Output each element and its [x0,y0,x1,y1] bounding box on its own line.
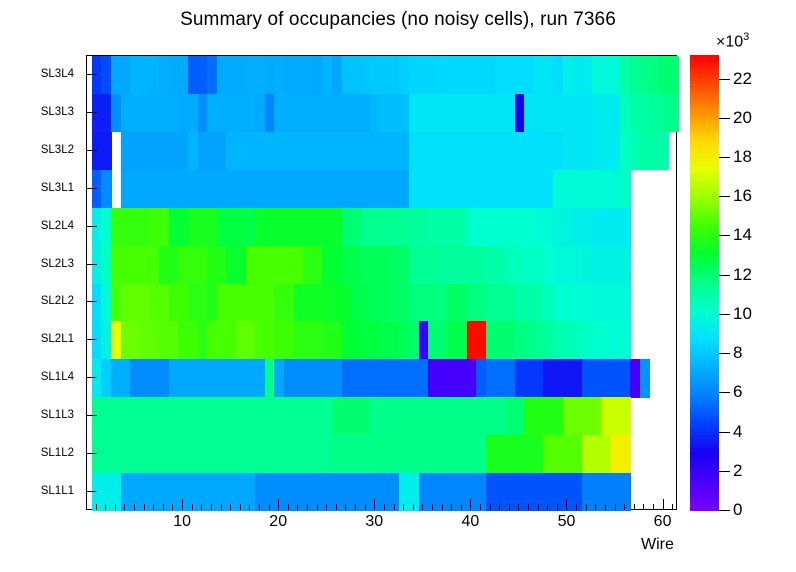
x-axis-tick [201,504,202,510]
heatmap-cell [620,435,630,473]
x-axis-tick [509,504,510,510]
x-axis-tick [394,504,395,510]
x-axis-tick [480,504,481,510]
x-axis-tick [413,504,414,510]
x-axis-tick [461,504,462,510]
x-axis-tick [297,504,298,510]
x-axis-tick [221,504,222,510]
x-axis-tick [605,504,606,510]
y-axis-label-sl2l3: SL2L3 [41,258,74,270]
y-axis-label-sl3l2: SL3L2 [41,144,74,156]
color-scale-segment [690,507,719,511]
heatmap-cell [101,132,111,170]
color-scale-tick [719,79,730,80]
x-axis-tick-label: 60 [654,513,672,531]
y-axis-label-sl3l3: SL3L3 [41,106,74,118]
y-axis-tick [86,226,97,227]
y-axis-tick [86,112,97,113]
heatmap-cell [620,473,630,511]
color-scale-tick-label: 4 [733,422,742,442]
x-axis-tick-label: 30 [365,513,383,531]
y-axis-tick [86,301,97,302]
x-axis-tick [663,499,664,510]
y-axis-label-sl1l2: SL1L2 [41,447,74,459]
color-scale-tick-label: 6 [733,382,742,402]
multiplier-exponent: 3 [743,31,749,43]
x-axis-tick [653,504,654,510]
y-axis-tick [86,188,97,189]
heatmap-cells [87,56,676,509]
x-axis-tick [144,504,145,510]
y-axis-label-sl1l4: SL1L4 [41,371,74,383]
x-axis-tick [624,504,625,510]
x-axis-tick [615,504,616,510]
x-axis-tick-label: 10 [173,513,191,531]
color-scale-tick [719,314,730,315]
heatmap-cell [620,208,630,246]
heatmap-cell [668,94,678,132]
x-axis-tick [163,504,164,510]
x-axis-tick [124,504,125,510]
x-axis-tick [182,499,183,510]
heatmap-cell [620,170,630,208]
x-axis-tick [528,504,529,510]
y-axis-label-sl2l4: SL2L4 [41,220,74,232]
y-axis-tick [86,377,97,378]
y-axis-label-sl2l1: SL2L1 [41,333,74,345]
x-axis-tick [96,504,97,510]
color-scale-tick-label: 14 [733,225,752,245]
x-axis-tick [566,499,567,510]
x-axis-tick [470,499,471,510]
x-axis-tick [365,504,366,510]
x-axis-tick [192,504,193,510]
color-scale-multiplier: ×103 [716,31,749,51]
y-axis-label-sl1l1: SL1L1 [41,485,74,497]
x-axis-tick [115,504,116,510]
x-axis-tick [307,504,308,510]
x-axis-tick [586,504,587,510]
x-axis-tick [249,504,250,510]
x-axis-tick [432,504,433,510]
multiplier-base: ×10 [716,33,743,50]
x-axis-tick [336,504,337,510]
heatmap-cell [659,132,669,170]
color-scale-tick-label: 16 [733,186,752,206]
color-scale-tick-label: 20 [733,108,752,128]
color-scale-tick-label: 12 [733,265,752,285]
color-scale-bar[interactable] [690,55,719,510]
heatmap-plot-area[interactable] [86,55,677,510]
x-axis-tick-label: 20 [269,513,287,531]
color-scale-tick [719,118,730,119]
y-axis-tick [86,150,97,151]
color-scale-tick [719,353,730,354]
x-axis-tick [595,504,596,510]
y-axis-tick [86,453,97,454]
heatmap-cell [668,56,678,94]
x-axis-tick [499,504,500,510]
x-axis-tick [422,504,423,510]
y-axis-tick [86,415,97,416]
x-axis-tick [269,504,270,510]
color-scale-tick-label: 0 [733,500,742,520]
x-axis-tick [105,504,106,510]
x-axis-tick [355,504,356,510]
color-scale-tick [719,157,730,158]
x-axis-tick [211,504,212,510]
y-axis-label-sl3l1: SL3L1 [41,182,74,194]
x-axis-tick [230,504,231,510]
heatmap-cell [640,359,650,397]
x-axis-tick [288,504,289,510]
color-scale-tick-label: 22 [733,69,752,89]
x-axis-tick [576,504,577,510]
x-axis-tick [547,504,548,510]
y-axis-label-sl1l3: SL1L3 [41,409,74,421]
heatmap-cell [620,321,630,359]
x-axis-tick [240,504,241,510]
y-axis-tick [86,264,97,265]
x-axis-tick [403,504,404,510]
x-axis-tick [153,504,154,510]
x-axis-tick [557,504,558,510]
y-axis-label-sl3l4: SL3L4 [41,68,74,80]
heatmap-cell [620,397,630,435]
x-axis-tick-label: 40 [461,513,479,531]
x-axis-tick [374,499,375,510]
color-scale-tick-label: 18 [733,147,752,167]
root-canvas: Summary of occupancies (no noisy cells),… [0,0,796,572]
page-title: Summary of occupancies (no noisy cells),… [0,9,796,31]
heatmap-cell [620,284,630,322]
x-axis-tick [134,504,135,510]
color-scale-tick-label: 2 [733,461,742,481]
color-scale-tick [719,275,730,276]
y-axis-tick [86,74,97,75]
color-scale-tick-label: 8 [733,343,742,363]
x-axis-title: Wire [641,536,674,554]
heatmap-cell [101,170,111,208]
x-axis-tick [278,499,279,510]
x-axis-tick [259,504,260,510]
color-scale-tick [719,432,730,433]
x-axis-tick [643,504,644,510]
color-scale-tick [719,196,730,197]
color-scale-tick [719,235,730,236]
color-scale-tick [719,471,730,472]
x-axis-tick [490,504,491,510]
x-axis-tick [538,504,539,510]
x-axis-tick-label: 50 [558,513,576,531]
x-axis-tick [317,504,318,510]
y-axis-tick [86,491,97,492]
x-axis-tick [451,504,452,510]
x-axis-tick [345,504,346,510]
x-axis-tick [672,504,673,510]
x-axis-tick [172,504,173,510]
x-axis-tick [518,504,519,510]
x-axis-tick [634,504,635,510]
y-axis-label-sl2l2: SL2L2 [41,295,74,307]
color-scale-tick-label: 10 [733,304,752,324]
color-scale-tick [719,392,730,393]
x-axis-tick [384,504,385,510]
x-axis-tick [442,504,443,510]
y-axis-tick [86,339,97,340]
x-axis-tick [326,504,327,510]
heatmap-cell [620,246,630,284]
color-scale-tick [719,510,730,511]
